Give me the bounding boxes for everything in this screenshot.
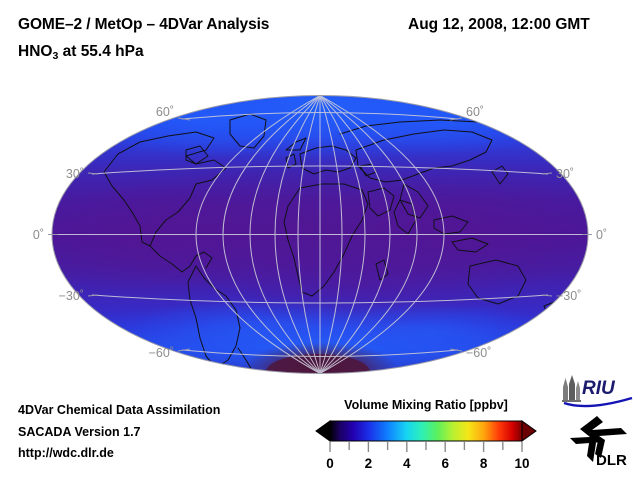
riu-spires-icon [562, 375, 581, 402]
dlr-logo-svg: DLR [566, 414, 632, 472]
lat-label-right-0: 0˚ [596, 228, 607, 242]
colorbar-tick-2: 2 [365, 456, 373, 471]
riu-logo: RIU [558, 374, 636, 410]
colorbar-extend-high [522, 421, 536, 441]
analysis-datetime: Aug 12, 2008, 12:00 GMT [408, 16, 590, 34]
lat-label-left-60: 60˚ [156, 105, 174, 119]
species-subscript: 3 [52, 50, 58, 62]
colorbar-tick-0: 0 [326, 456, 334, 471]
footer-line-version: SACADA Version 1.7 [18, 422, 220, 444]
lat-label-right-30: 30˚ [556, 167, 574, 181]
lat-label-right-m60: −60˚ [466, 346, 491, 360]
lat-label-left-m60: −60˚ [149, 346, 174, 360]
page-title: GOME–2 / MetOp – 4DVar Analysis [18, 16, 269, 34]
species-subtitle: HNO3 at 55.4 hPa [18, 43, 144, 61]
lat-label-right-m30: −30˚ [556, 289, 581, 303]
colorbar-tick-6: 6 [441, 456, 449, 471]
colorbar-tick-10: 10 [514, 456, 529, 471]
dlr-logo: DLR [566, 414, 632, 472]
colorbar: Volume Mixing Ratio [ppbv] [312, 398, 540, 476]
species-level: at 55.4 hPa [58, 43, 143, 60]
colorbar-tick-4: 4 [403, 456, 411, 471]
lat-label-left-30: 30˚ [66, 167, 84, 181]
colorbar-title: Volume Mixing Ratio [ppbv] [312, 398, 540, 412]
lat-label-left-0: 0˚ [33, 228, 44, 242]
lat-label-left-m30: −30˚ [59, 289, 84, 303]
colorbar-svg: 0 2 4 6 8 10 [312, 420, 540, 476]
footer-line-method: 4DVar Chemical Data Assimilation [18, 400, 220, 422]
colorbar-ticks [330, 442, 522, 452]
colorbar-gradient [330, 421, 522, 441]
dlr-wordmark: DLR [596, 452, 627, 469]
footer-line-url[interactable]: http://wdc.dlr.de [18, 443, 220, 465]
riu-logo-svg: RIU [558, 374, 636, 410]
riu-wordmark: RIU [582, 378, 616, 399]
lat-label-right-60: 60˚ [466, 105, 484, 119]
map-svg: 60˚ 30˚ 0˚ −30˚ −60˚ 60˚ 30˚ 0˚ −30˚ −60… [0, 80, 640, 390]
colorbar-tick-labels: 0 2 4 6 8 10 [326, 456, 529, 471]
global-map: 60˚ 30˚ 0˚ −30˚ −60˚ 60˚ 30˚ 0˚ −30˚ −60… [0, 80, 640, 390]
colorbar-extend-low [316, 421, 330, 441]
colorbar-tick-8: 8 [480, 456, 488, 471]
footer-info: 4DVar Chemical Data Assimilation SACADA … [18, 400, 220, 465]
species-name: HNO [18, 43, 52, 60]
